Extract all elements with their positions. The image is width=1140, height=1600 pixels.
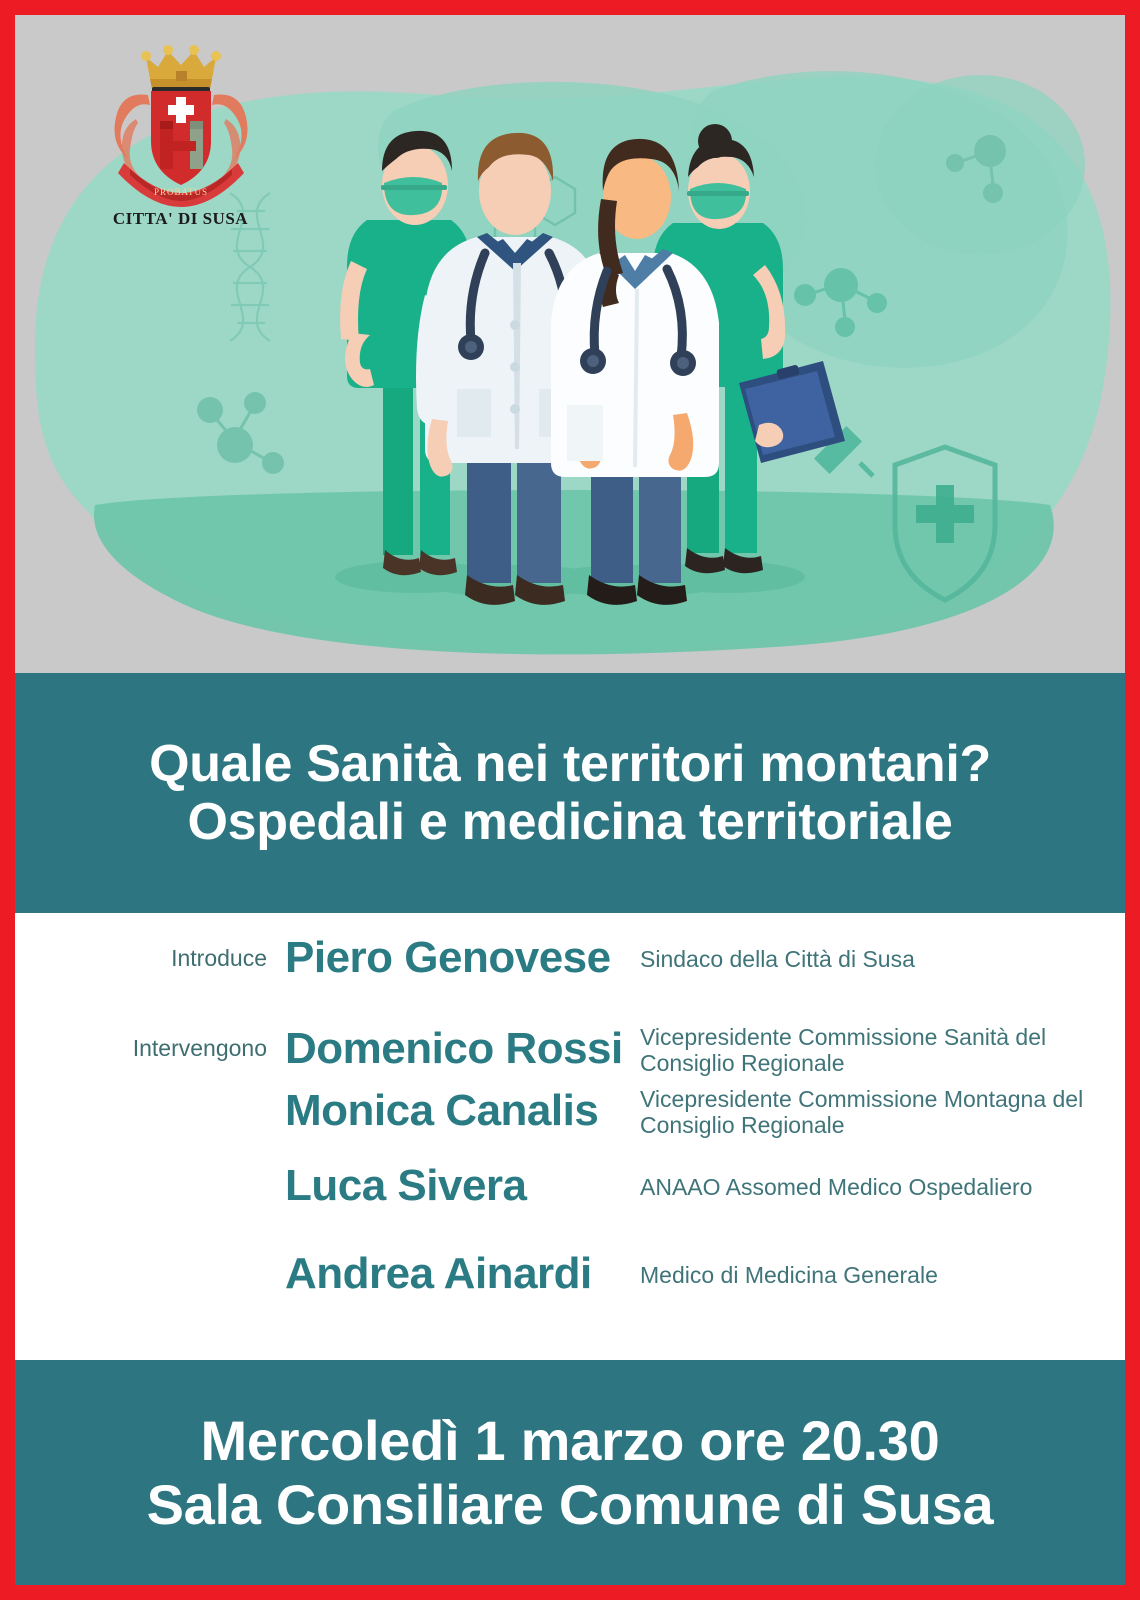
crown-part (141, 45, 221, 94)
speaker-role: Sindaco della Città di Susa (640, 943, 1125, 973)
title-line-2: Ospedali e medicina territoriale (188, 793, 953, 851)
speaker-row-ainardi: Andrea Ainardi Medico di Medicina Genera… (15, 1251, 1125, 1297)
event-poster: PROBATUS CITTA' DI SUSA Quale Sanità nei… (0, 0, 1140, 1600)
speaker-role: ANAAO Assomed Medico Ospedaliero (640, 1171, 1125, 1201)
title-line-1: Quale Sanità nei territori montani? (149, 735, 991, 793)
speaker-row-rossi: Intervengono Domenico Rossi Vicepresiden… (15, 1021, 1125, 1077)
speaker-row-introduce: Introduce Piero Genovese Sindaco della C… (15, 935, 1125, 981)
speaker-role: Vicepresidente Commissione Montagna del … (640, 1083, 1125, 1139)
event-venue: Sala Consiliare Comune di Susa (147, 1473, 994, 1537)
speakers-section: Introduce Piero Genovese Sindaco della C… (15, 913, 1125, 1360)
susa-coat-of-arms-icon: PROBATUS (106, 43, 256, 208)
footer-band: Mercoledì 1 marzo ore 20.30 Sala Consili… (15, 1360, 1125, 1585)
speaker-name: Domenico Rossi (285, 1026, 640, 1072)
speaker-cue-label: Intervengono (15, 1035, 285, 1062)
crest-block: PROBATUS CITTA' DI SUSA (83, 43, 278, 243)
svg-text:PROBATUS: PROBATUS (153, 187, 207, 197)
event-datetime: Mercoledì 1 marzo ore 20.30 (201, 1409, 940, 1473)
speaker-row-canalis: Monica Canalis Vicepresidente Commission… (15, 1083, 1125, 1139)
crest-label: CITTA' DI SUSA (83, 209, 278, 229)
speaker-name: Monica Canalis (285, 1088, 640, 1134)
speaker-name: Piero Genovese (285, 935, 640, 981)
speaker-name: Luca Sivera (285, 1163, 640, 1209)
hero-illustration: PROBATUS CITTA' DI SUSA (15, 15, 1125, 673)
speaker-role: Medico di Medicina Generale (640, 1259, 1125, 1289)
title-band: Quale Sanità nei territori montani? Ospe… (15, 673, 1125, 913)
speaker-name: Andrea Ainardi (285, 1251, 640, 1297)
speaker-row-sivera: Luca Sivera ANAAO Assomed Medico Ospedal… (15, 1163, 1125, 1209)
speaker-cue-label: Introduce (15, 945, 285, 972)
speaker-role: Vicepresidente Commissione Sanità del Co… (640, 1021, 1125, 1077)
